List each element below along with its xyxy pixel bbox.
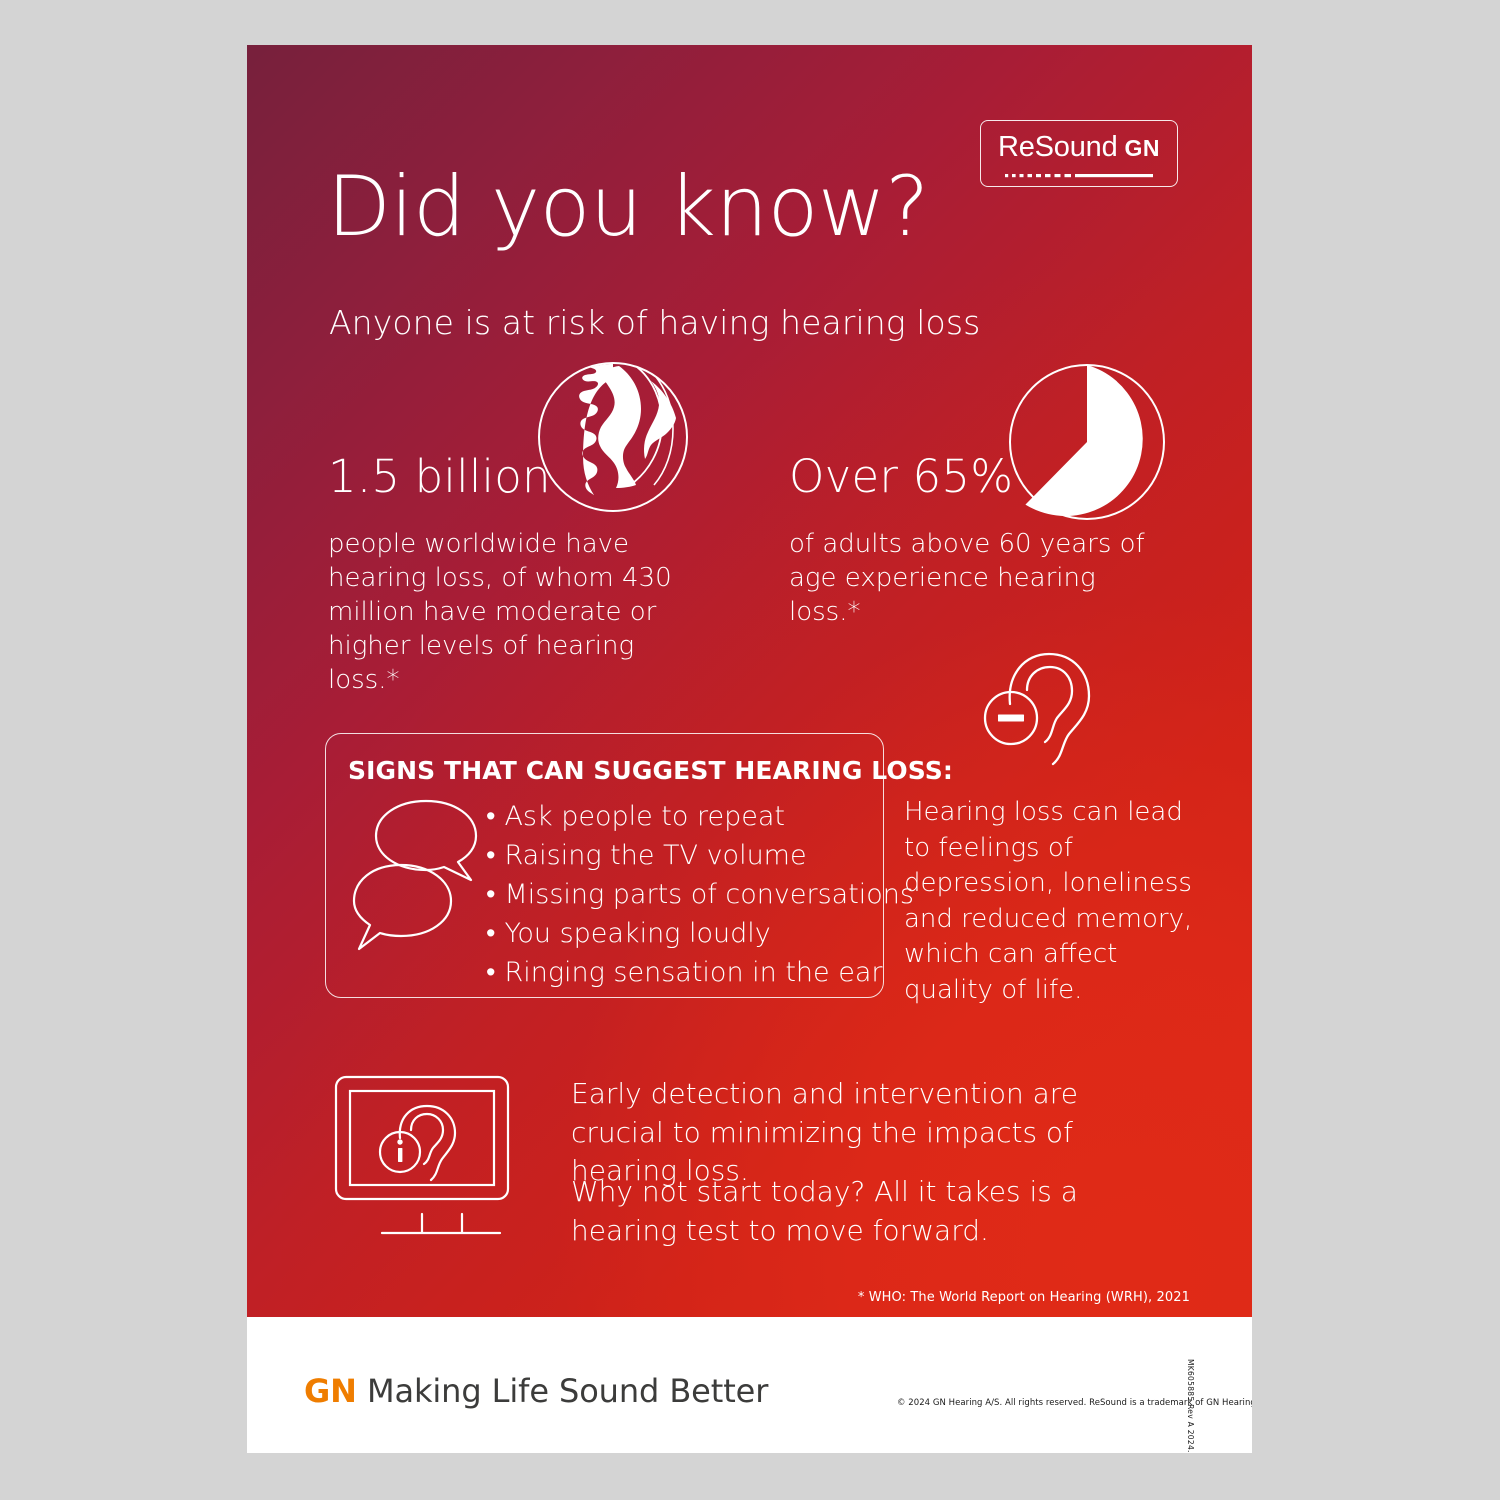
globe-icon (533, 357, 693, 517)
poster: ReSound GN Did you know? Anyone is at ri… (247, 45, 1252, 1453)
gn-tagline-lockup: GN Making Life Sound Better (304, 1372, 768, 1410)
depression-paragraph: Hearing loss can lead to feelings of dep… (904, 795, 1204, 1009)
logo-resound-word: ReSound (998, 131, 1118, 164)
list-item: Raising the TV volume (486, 837, 914, 876)
source-footnote: * WHO: The World Report on Hearing (WRH)… (858, 1290, 1190, 1305)
gn-tagline: Making Life Sound Better (367, 1372, 768, 1410)
list-item: Ask people to repeat (486, 798, 914, 837)
list-item: You speaking loudly (486, 915, 914, 954)
list-item: Missing parts of conversations (486, 876, 914, 915)
cta-paragraph-2: Why not start today? All it takes is a h… (571, 1173, 1131, 1250)
stat-body-2: of adults above 60 years of age experien… (789, 527, 1169, 629)
stat-body-1: people worldwide have hearing loss, of w… (328, 527, 698, 697)
poster-red-background: ReSound GN Did you know? Anyone is at ri… (247, 45, 1252, 1317)
gn-wordmark: GN (304, 1372, 357, 1410)
page-subtitle: Anyone is at risk of having hearing loss (329, 303, 980, 342)
monitor-ear-info-icon (332, 1072, 524, 1247)
speech-bubbles-icon (348, 797, 488, 957)
logo-gn-word: GN (1125, 135, 1161, 162)
list-item: Ringing sensation in the ear (486, 954, 914, 993)
signs-box: SIGNS THAT CAN SUGGEST HEARING LOSS: Ask… (325, 733, 884, 998)
stat-number-1: 1.5 billion (328, 450, 551, 503)
logo-dotted-rule-icon (1005, 171, 1153, 180)
signs-title: SIGNS THAT CAN SUGGEST HEARING LOSS: (348, 756, 953, 785)
page-title: Did you know? (327, 163, 929, 250)
pie-chart-icon (1005, 360, 1169, 524)
logo-wordmark-row: ReSound GN (981, 131, 1177, 164)
signs-list: Ask people to repeat Raising the TV volu… (486, 798, 914, 992)
copyright-line: © 2024 GN Hearing A/S. All rights reserv… (897, 1398, 1252, 1408)
poster-footer: GN Making Life Sound Better © 2024 GN He… (247, 1317, 1252, 1453)
resound-gn-logo: ReSound GN (980, 120, 1178, 187)
document-code: MK605885 Rev A 2024.08 (1186, 1359, 1195, 1453)
ear-minus-icon (977, 646, 1103, 772)
stat-number-2: Over 65% (789, 450, 1013, 503)
